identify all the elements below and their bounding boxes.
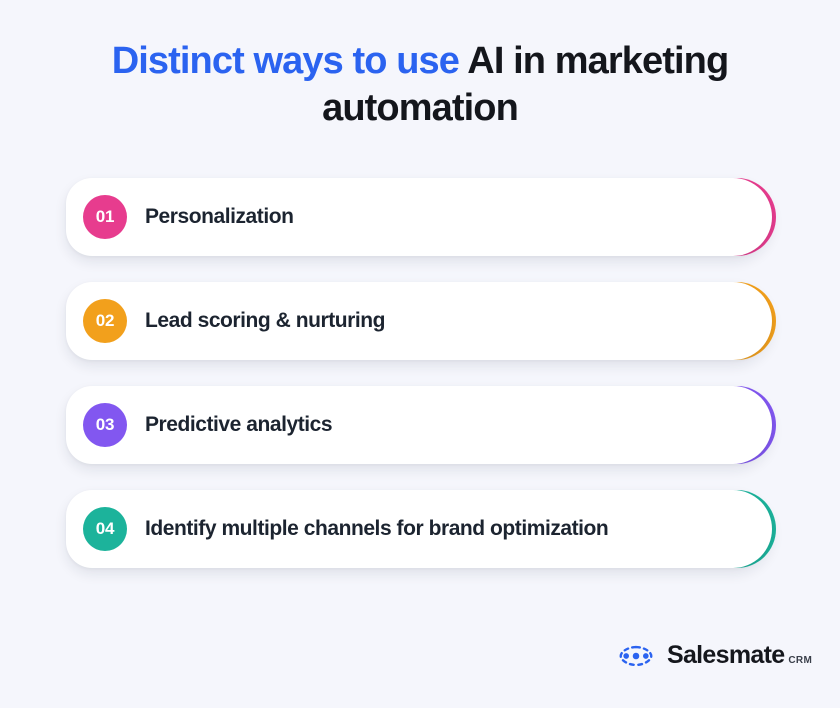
- list-item-number: 01: [96, 207, 115, 227]
- list-item-label: Identify multiple channels for brand opt…: [145, 517, 608, 541]
- list-item-number-badge: 04: [83, 507, 127, 551]
- list-item-number: 03: [96, 415, 115, 435]
- list-item-card[interactable]: 02 Lead scoring & nurturing: [66, 282, 772, 360]
- list-item-label: Predictive analytics: [145, 413, 332, 437]
- brand-logo: Salesmate CRM: [616, 641, 812, 670]
- list-item[interactable]: 03 Predictive analytics: [0, 386, 840, 464]
- list-item[interactable]: 04 Identify multiple channels for brand …: [0, 490, 840, 568]
- list-item-number: 04: [96, 519, 115, 539]
- list-item[interactable]: 02 Lead scoring & nurturing: [0, 282, 840, 360]
- page-title: Distinct ways to use AI in marketing aut…: [70, 38, 770, 132]
- list-item-number-badge: 03: [83, 403, 127, 447]
- list-item-card[interactable]: 01 Personalization: [66, 178, 772, 256]
- list-item-number: 02: [96, 311, 115, 331]
- brand-name: Salesmate: [667, 641, 784, 670]
- brand-suffix: CRM: [788, 655, 812, 666]
- list-item[interactable]: 01 Personalization: [0, 178, 840, 256]
- list-item-label: Lead scoring & nurturing: [145, 309, 385, 333]
- numbered-list: 01 Personalization 02 Lead scoring & nur…: [0, 178, 840, 594]
- list-item-label: Personalization: [145, 205, 293, 229]
- salesmate-logo-icon: [616, 643, 656, 669]
- page-title-accent: Distinct ways to use: [112, 40, 459, 82]
- list-item-card[interactable]: 03 Predictive analytics: [66, 386, 772, 464]
- list-item-number-badge: 01: [83, 195, 127, 239]
- list-item-number-badge: 02: [83, 299, 127, 343]
- list-item-card[interactable]: 04 Identify multiple channels for brand …: [66, 490, 772, 568]
